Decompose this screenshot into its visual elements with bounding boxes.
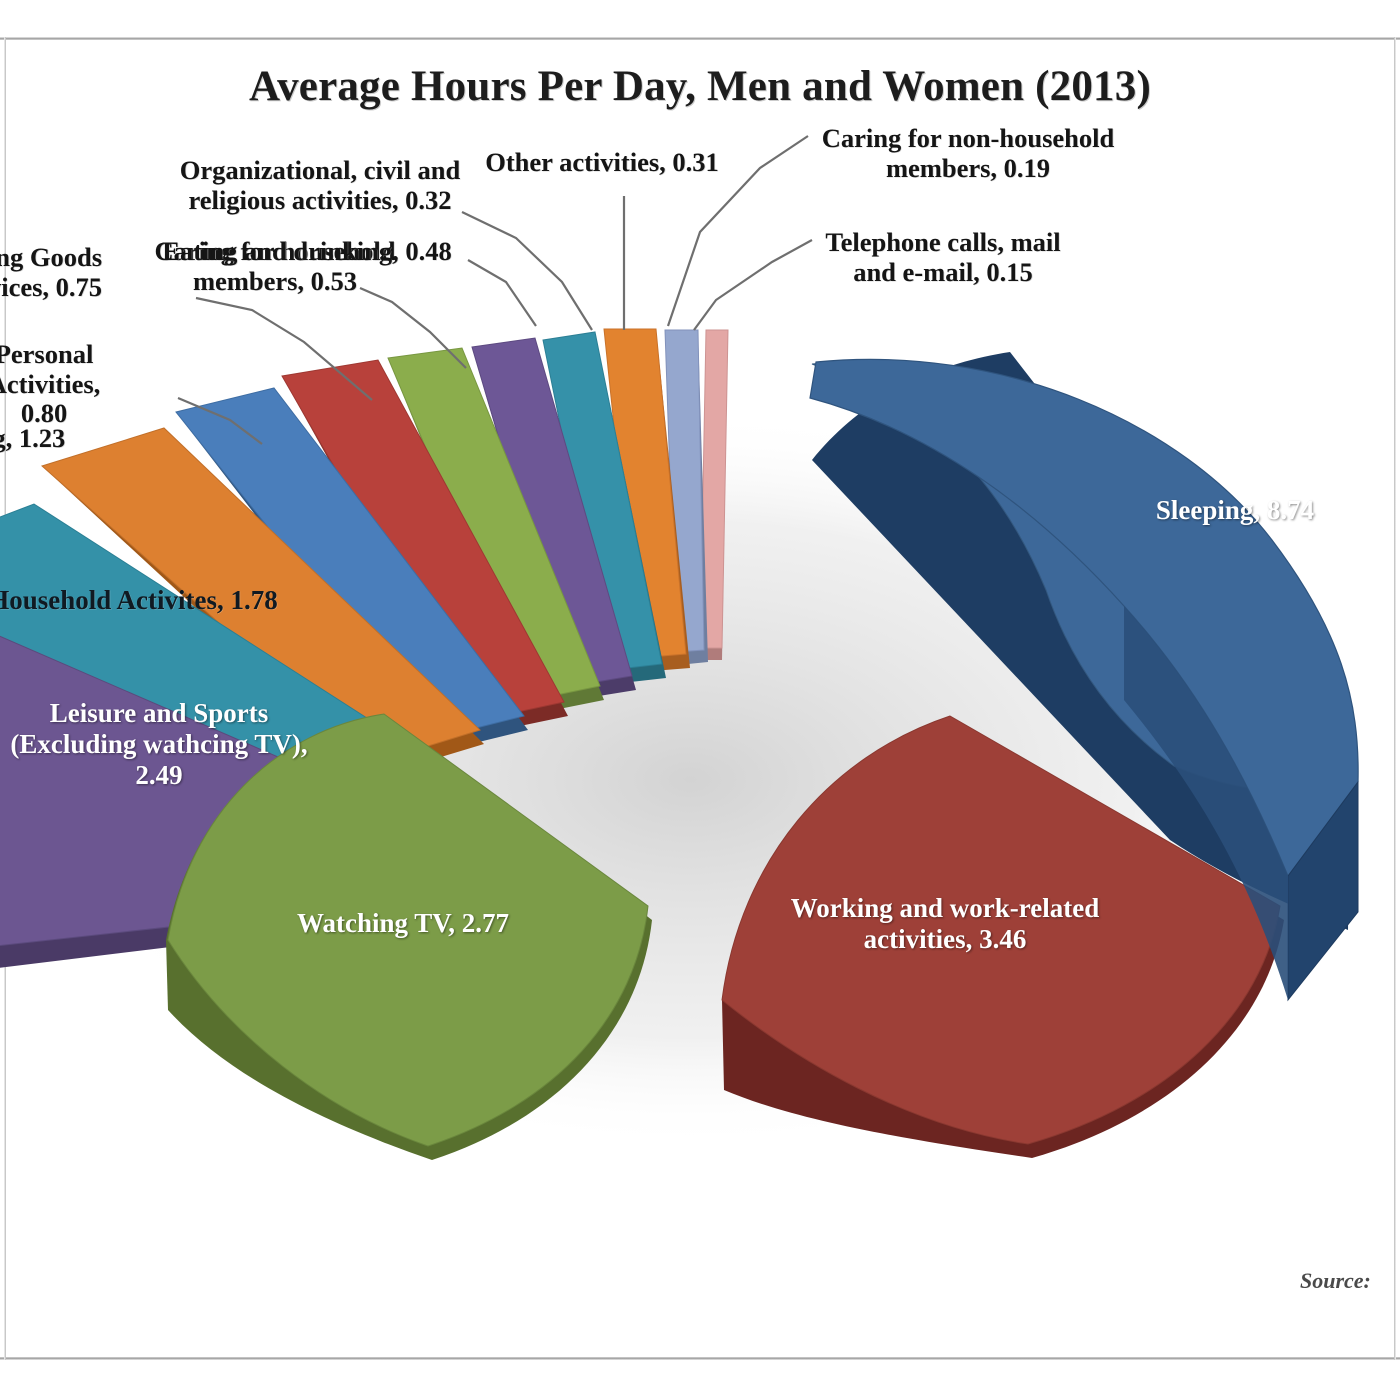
slice-label-leisure-sports: Leisure and Sports (Excluding wathcing T… — [0, 698, 354, 790]
chart-page: Average Hours Per Day, Men and Women (20… — [0, 0, 1400, 1400]
callout-organizational-civil-religious: Organizational, civil and religious acti… — [160, 156, 480, 215]
slice-label-sleeping: Sleeping, 8.74 — [1120, 495, 1350, 526]
callout-purchasing-goods: ing Goods vices, 0.75 — [0, 243, 140, 302]
source-note: Source: — [1300, 1268, 1400, 1294]
callout-educating: ng, 1.23 — [0, 424, 89, 454]
slice-label-working: Working and work-related activities, 3.4… — [790, 893, 1100, 955]
callout-telephone-mail-email: Telephone calls, mail and e-mail, 0.15 — [818, 228, 1068, 287]
callout-eating-drinking: Eating and drinking, 0.48 — [142, 237, 472, 267]
callout-other-personal-care: Personal Activities, 0.80 — [0, 340, 134, 429]
callout-caring-non-household: Caring for non-household members, 0.19 — [808, 124, 1128, 183]
callout-other-activities: Other activities, 0.31 — [472, 148, 732, 178]
slice-label-household-activities: Household Activites, 1.78 — [0, 585, 308, 616]
pie-chart-canvas: ing Goods vices, 0.75 Personal Activitie… — [0, 0, 1400, 1400]
slice-label-watching-tv: Watching TV, 2.77 — [258, 908, 548, 939]
